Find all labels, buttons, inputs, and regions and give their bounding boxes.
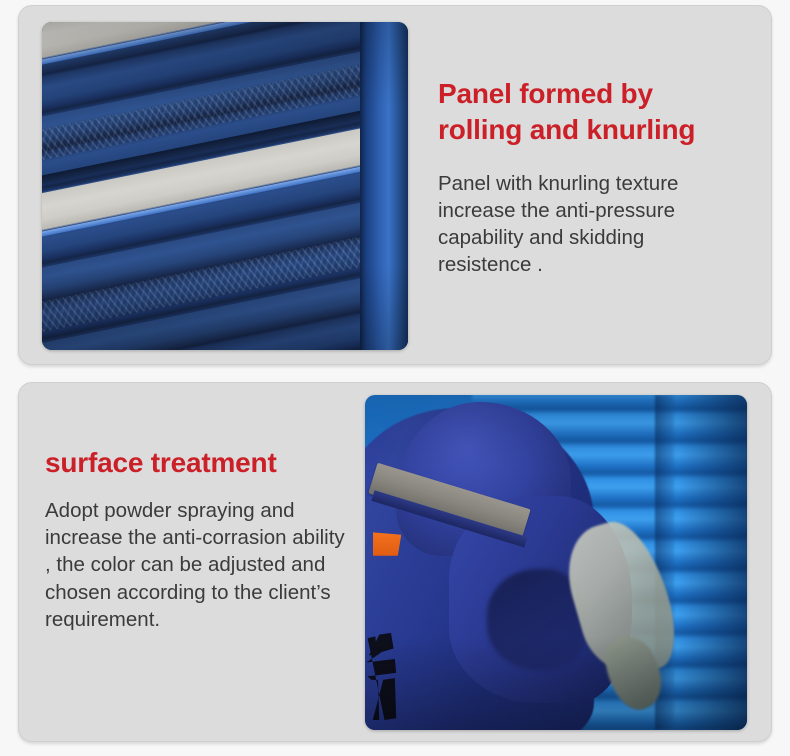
panel-forming-body: Panel with knurling texture increase the… <box>438 170 738 279</box>
surface-treatment-heading: surface treatment <box>45 445 355 481</box>
feature-panel-page: Panel formed by rolling and knurling Pan… <box>0 0 790 756</box>
worker-image <box>365 395 747 730</box>
panel-forming-text: Panel formed by rolling and knurling Pan… <box>408 6 771 364</box>
surface-treatment-body: Adopt powder spraying and increase the a… <box>45 497 345 633</box>
shutter-image <box>42 22 408 350</box>
panel-forming-heading: Panel formed by rolling and knurling <box>438 76 738 148</box>
feature-card-surface-treatment: surface treatment Adopt powder spraying … <box>18 382 772 742</box>
card-inner: Panel formed by rolling and knurling Pan… <box>19 6 771 364</box>
panel-forming-photo <box>42 22 408 350</box>
surface-treatment-photo <box>365 395 747 730</box>
card-inner: surface treatment Adopt powder spraying … <box>19 383 771 741</box>
surface-treatment-text: surface treatment Adopt powder spraying … <box>19 383 365 741</box>
photo-vignette <box>42 22 408 350</box>
feature-card-panel-forming: Panel formed by rolling and knurling Pan… <box>18 5 772 365</box>
photo-vignette <box>365 395 747 730</box>
